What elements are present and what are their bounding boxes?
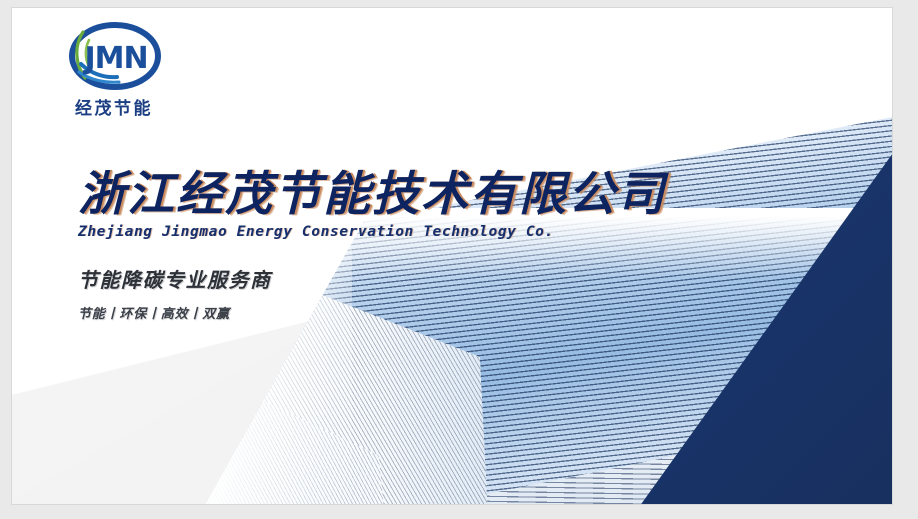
jmn-oval-logo-icon: JMN (65, 20, 165, 92)
logo-wordmark: 经茂节能 (45, 94, 183, 119)
tagline-secondary: 节能丨环保丨高效丨双赢 (78, 303, 698, 322)
slide-frame: JMN 经茂节能 浙江经茂节能技术有限公司 Zhejiang Jingmao E… (0, 0, 918, 519)
company-title-chinese: 浙江经茂节能技术有限公司 (78, 168, 698, 222)
company-title-english: Zhejiang Jingmao Energy Conservation Tec… (78, 224, 698, 240)
svg-text:JMN: JMN (82, 41, 147, 76)
headline-block: 浙江经茂节能技术有限公司 Zhejiang Jingmao Energy Con… (78, 168, 698, 322)
slide-canvas: JMN 经茂节能 浙江经茂节能技术有限公司 Zhejiang Jingmao E… (12, 8, 892, 504)
company-logo: JMN 经茂节能 (45, 20, 183, 125)
tagline-primary: 节能降碳专业服务商 (78, 264, 698, 293)
